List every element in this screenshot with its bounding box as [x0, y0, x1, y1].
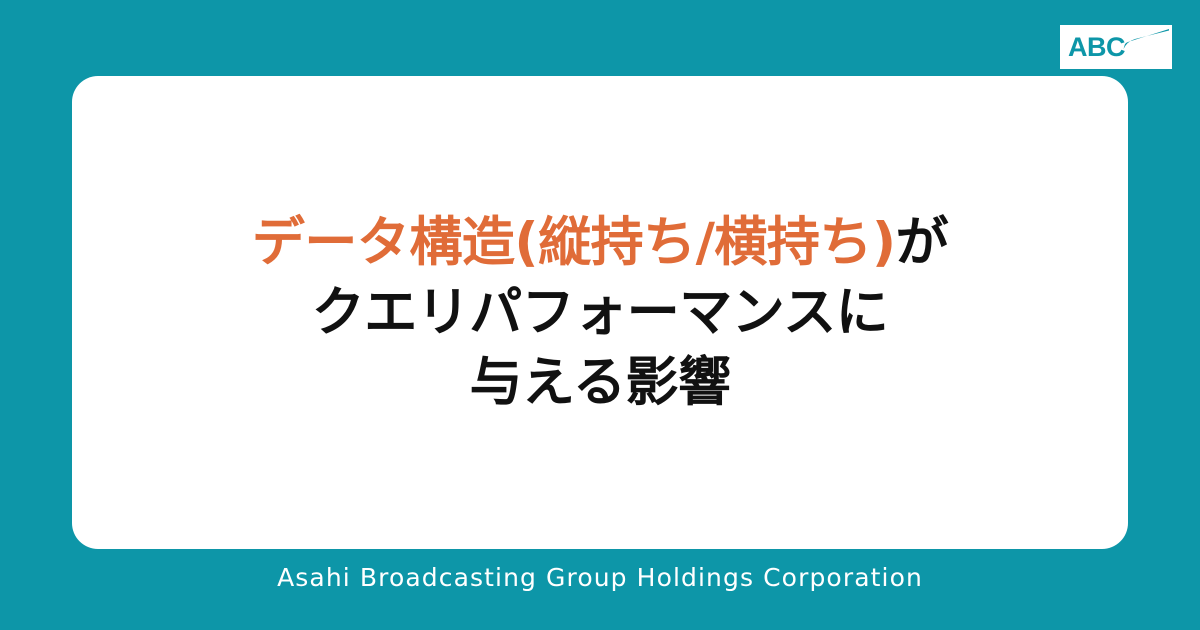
title-line-3: 与える影響 [132, 348, 1068, 418]
title-line-1: データ構造(縦持ち/横持ち)が [132, 208, 1068, 278]
brand-logo: ABC [1060, 25, 1172, 69]
page-title: データ構造(縦持ち/横持ち)が クエリパフォーマンスに 与える影響 [132, 208, 1068, 418]
content-card: データ構造(縦持ち/横持ち)が クエリパフォーマンスに 与える影響 [72, 76, 1128, 549]
title-line-1-accent: データ構造(縦持ち/横持ち) [252, 212, 896, 273]
ogp-canvas: ABC データ構造(縦持ち/横持ち)が クエリパフォーマンスに 与える影響 As… [0, 0, 1200, 630]
title-line-2: クエリパフォーマンスに [132, 278, 1068, 348]
title-line-1-rest: が [896, 212, 949, 273]
footer-organization-name: Asahi Broadcasting Group Holdings Corpor… [0, 560, 1200, 596]
logo-wordmark: ABC [1068, 32, 1125, 62]
